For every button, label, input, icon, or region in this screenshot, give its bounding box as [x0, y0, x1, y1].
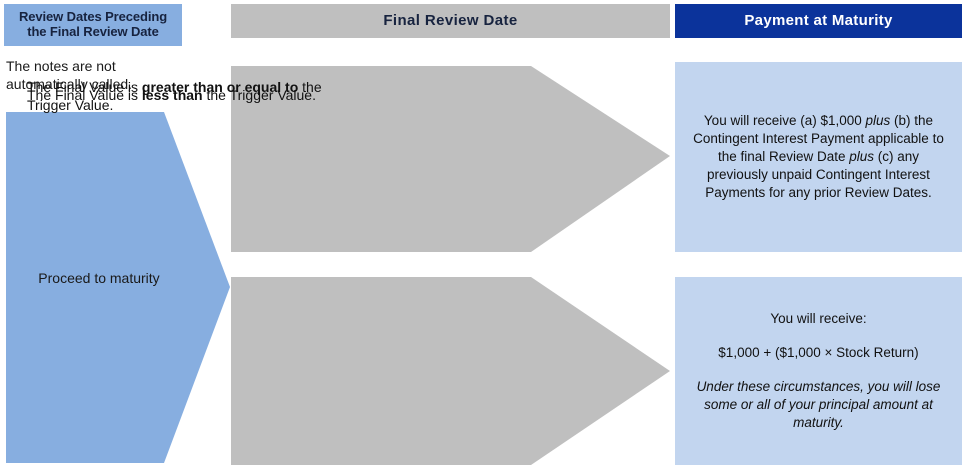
flow-diagram: Review Dates Preceding the Final Review …: [0, 0, 962, 475]
payment-box-upside: You will receive (a) $1,000 plus (b) the…: [675, 62, 962, 252]
branch-1-arrow: [231, 66, 670, 252]
payment-downside-warning: Under these circumstances, you will lose…: [689, 378, 948, 431]
proceed-to-maturity-arrow: Proceed to maturity: [4, 110, 232, 465]
payment-downside-intro: You will receive:: [770, 310, 866, 328]
left-column-note: The notes are not automatically called.: [6, 58, 186, 93]
branch-2-arrow-shape: [231, 277, 670, 465]
column-header-review-dates: Review Dates Preceding the Final Review …: [4, 4, 182, 46]
payment-downside-formula: $1,000 + ($1,000 × Stock Return): [718, 344, 918, 362]
payment-upside-seg-4: plus: [849, 149, 874, 164]
proceed-arrow-shape: [4, 110, 232, 465]
payment-upside-seg-1: You will receive (a) $1,000: [704, 113, 866, 128]
branch-1-arrow-shape: [231, 66, 670, 252]
branch-2-arrow: [231, 277, 670, 465]
column-header-final-review-date: Final Review Date: [231, 4, 670, 38]
column-header-payment-at-maturity: Payment at Maturity: [675, 4, 962, 38]
payment-box-downside: You will receive: $1,000 + ($1,000 × Sto…: [675, 277, 962, 465]
payment-upside-text: You will receive (a) $1,000 plus (b) the…: [689, 112, 948, 201]
payment-upside-seg-2: plus: [866, 113, 891, 128]
